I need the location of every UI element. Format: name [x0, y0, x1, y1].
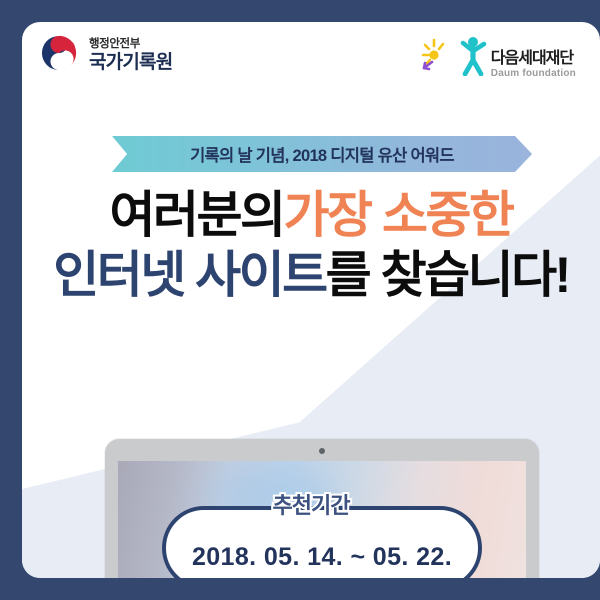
headline-line1-part1: 여러분의	[110, 187, 284, 243]
agency-name: 국가기록원	[89, 53, 172, 72]
sun-burst-icon	[421, 36, 455, 81]
poster-card: 행정안전부 국가기록원	[22, 22, 600, 578]
taegeuk-icon	[38, 32, 80, 79]
government-logo: 행정안전부 국가기록원	[38, 32, 172, 79]
partner-name-en: Daum foundation	[491, 69, 576, 79]
government-logo-text: 행정안전부 국가기록원	[89, 39, 172, 73]
headline-line-2: 인터넷 사이트를 찾습니다!	[22, 250, 600, 302]
partner-logo: 다음세대재단 Daum foundation	[421, 34, 576, 81]
person-figure-icon	[458, 34, 488, 81]
ribbon-label: 기록의 날 기념, 2018 디지털 유산 어워드	[190, 142, 454, 166]
recommendation-period-label: 추천기간	[273, 488, 350, 520]
webcam-dot-icon	[319, 448, 325, 454]
ministry-name: 행정안전부	[89, 39, 172, 51]
partner-name-kr: 다음세대재단	[491, 51, 576, 67]
headline-line2-part2: 를 찾습니다!	[326, 247, 569, 303]
event-ribbon-banner: 기록의 날 기념, 2018 디지털 유산 어워드	[112, 136, 532, 172]
partner-logo-text: 다음세대재단 Daum foundation	[491, 51, 576, 81]
headline-line1-part2: 가장 소중한	[284, 187, 513, 243]
poster-root: 행정안전부 국가기록원	[0, 0, 600, 600]
headline-line2-part1: 인터넷 사이트	[53, 247, 325, 303]
headline: 여러분의가장 소중한 인터넷 사이트를 찾습니다!	[22, 190, 600, 301]
headline-line-1: 여러분의가장 소중한	[22, 190, 600, 242]
logo-row: 행정안전부 국가기록원	[22, 22, 600, 114]
recommendation-period-value: 2018. 05. 14. ~ 05. 22.	[192, 543, 452, 572]
